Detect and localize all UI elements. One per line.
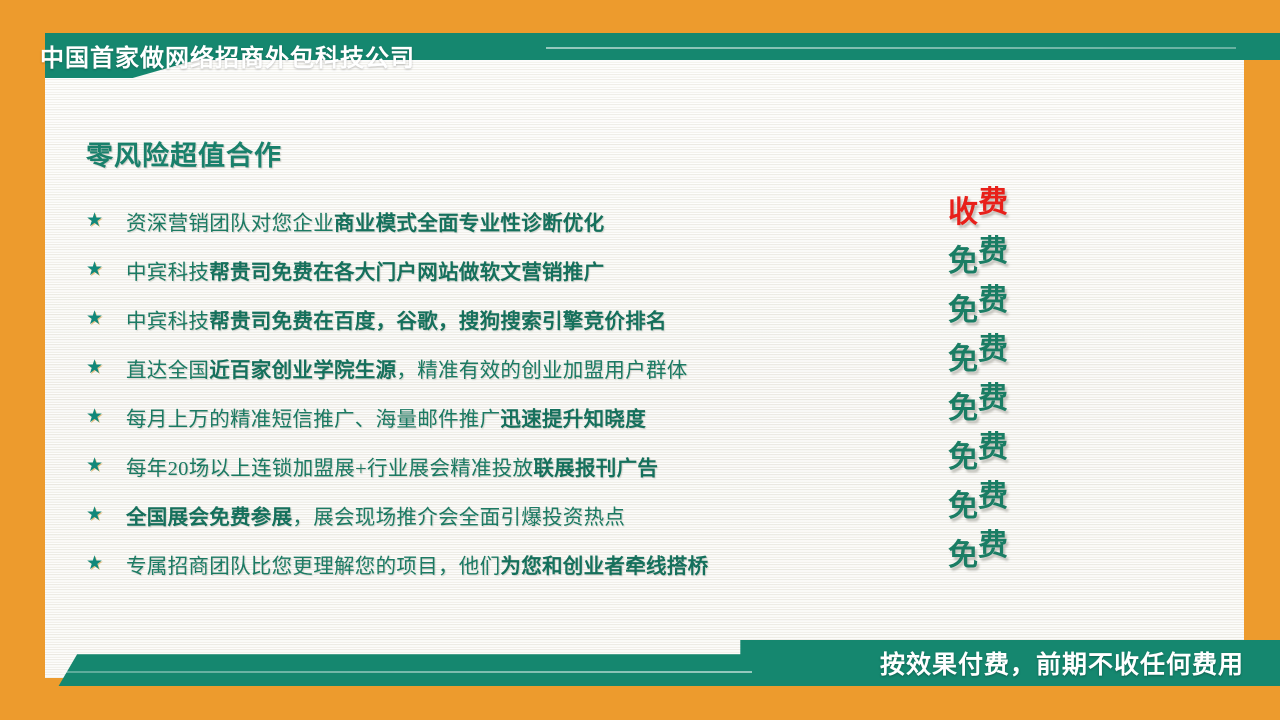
star-icon: ★	[86, 505, 126, 524]
fee-badge-char-1: 免	[948, 247, 978, 277]
benefit-text-plain-tail: ，展会现场推介会全面引爆投资热点	[292, 507, 625, 529]
star-icon: ★	[86, 309, 126, 328]
star-icon: ★	[86, 211, 126, 230]
benefit-row: ★直达全国近百家创业学院生源，精准有效的创业加盟用户群体免费	[86, 343, 1066, 392]
benefit-text-emphasis: 近百家创业学院生源	[209, 360, 396, 382]
benefit-text-plain-lead: 每年20场以上连锁加盟展+行业展会精准投放	[126, 458, 533, 480]
fee-badge-char-1: 免	[948, 296, 978, 326]
fee-badge: 免费	[948, 484, 1058, 514]
fee-badge-char-1: 免	[948, 492, 978, 522]
benefit-text: 直达全国近百家创业学院生源，精准有效的创业加盟用户群体	[126, 353, 1066, 383]
benefit-text: 每月上万的精准短信推广、海量邮件推广迅速提升知晓度	[126, 402, 1066, 432]
star-icon: ★	[86, 358, 126, 377]
benefit-text-emphasis: 帮贵司免费在百度，谷歌，搜狗搜索引擎竞价排名	[209, 311, 667, 333]
fee-badge: 免费	[948, 288, 1058, 318]
benefit-text-plain-lead: 直达全国	[126, 360, 209, 382]
star-icon: ★	[86, 407, 126, 426]
fee-badge-char-2: 费	[978, 188, 1008, 218]
benefit-text: 全国展会免费参展，展会现场推介会全面引爆投资热点	[126, 500, 1066, 530]
benefit-text-emphasis: 商业模式全面专业性诊断优化	[334, 213, 604, 235]
fee-badge-char-1: 免	[948, 443, 978, 473]
fee-badge-char-1: 收	[948, 198, 978, 228]
fee-badge: 免费	[948, 239, 1058, 269]
benefit-text-emphasis: 为您和创业者牵线搭桥	[500, 556, 708, 578]
fee-badge: 免费	[948, 533, 1058, 563]
benefit-row: ★每年20场以上连锁加盟展+行业展会精准投放联展报刊广告免费	[86, 441, 1066, 490]
fee-badge-char-2: 费	[978, 286, 1008, 316]
fee-badge: 免费	[948, 386, 1058, 416]
fee-badge-char-1: 免	[948, 394, 978, 424]
benefit-text-emphasis: 迅速提升知晓度	[500, 409, 646, 431]
section-title: 零风险超值合作	[86, 134, 282, 173]
fee-badge: 免费	[948, 337, 1058, 367]
benefit-text-plain-lead: 专属招商团队比您更理解您的项目，他们	[126, 556, 500, 578]
benefit-row: ★资深营销团队对您企业商业模式全面专业性诊断优化收费	[86, 196, 1066, 245]
fee-badge-char-2: 费	[978, 384, 1008, 414]
benefit-text: 中宾科技帮贵司免费在百度，谷歌，搜狗搜索引擎竞价排名	[126, 304, 1066, 334]
benefit-text-plain-lead: 中宾科技	[126, 262, 209, 284]
star-icon: ★	[86, 456, 126, 475]
benefit-row: ★中宾科技帮贵司免费在各大门户网站做软文营销推广免费	[86, 245, 1066, 294]
benefit-text-plain-lead: 资深营销团队对您企业	[126, 213, 334, 235]
fee-badge-char-2: 费	[978, 433, 1008, 463]
benefit-text-plain-lead: 中宾科技	[126, 311, 209, 333]
benefit-text: 每年20场以上连锁加盟展+行业展会精准投放联展报刊广告	[126, 451, 1066, 481]
benefit-list: ★资深营销团队对您企业商业模式全面专业性诊断优化收费★中宾科技帮贵司免费在各大门…	[86, 196, 1066, 588]
benefit-text-emphasis: 全国展会免费参展	[126, 507, 292, 529]
benefit-text-plain-tail: ，精准有效的创业加盟用户群体	[396, 360, 687, 382]
benefit-text-plain-lead: 每月上万的精准短信推广、海量邮件推广	[126, 409, 500, 431]
fee-badge: 收费	[948, 190, 1058, 220]
fee-badge-char-1: 免	[948, 541, 978, 571]
star-icon: ★	[86, 260, 126, 279]
benefit-text-emphasis: 帮贵司免费在各大门户网站做软文营销推广	[209, 262, 604, 284]
header-divider-line	[546, 47, 1236, 49]
fee-badge-char-2: 费	[978, 335, 1008, 365]
benefit-text: 资深营销团队对您企业商业模式全面专业性诊断优化	[126, 206, 1066, 236]
slide-root: 中国首家做网络招商外包科技公司 零风险超值合作 ★资深营销团队对您企业商业模式全…	[0, 0, 1280, 720]
footer-tagline: 按效果付费，前期不收任何费用	[880, 645, 1244, 681]
benefit-row: ★全国展会免费参展，展会现场推介会全面引爆投资热点免费	[86, 490, 1066, 539]
benefit-row: ★每月上万的精准短信推广、海量邮件推广迅速提升知晓度免费	[86, 392, 1066, 441]
fee-badge-char-2: 费	[978, 237, 1008, 267]
benefit-row: ★中宾科技帮贵司免费在百度，谷歌，搜狗搜索引擎竞价排名免费	[86, 294, 1066, 343]
benefit-text-emphasis: 联展报刊广告	[533, 458, 658, 480]
fee-badge-char-2: 费	[978, 531, 1008, 561]
header-title: 中国首家做网络招商外包科技公司	[40, 38, 415, 73]
benefit-text: 专属招商团队比您更理解您的项目，他们为您和创业者牵线搭桥	[126, 549, 1066, 579]
benefit-text: 中宾科技帮贵司免费在各大门户网站做软文营销推广	[126, 255, 1066, 285]
star-icon: ★	[86, 554, 126, 573]
fee-badge-char-2: 费	[978, 482, 1008, 512]
footer-divider-line	[62, 671, 752, 673]
fee-badge-char-1: 免	[948, 345, 978, 375]
fee-badge: 免费	[948, 435, 1058, 465]
benefit-row: ★专属招商团队比您更理解您的项目，他们为您和创业者牵线搭桥免费	[86, 539, 1066, 588]
